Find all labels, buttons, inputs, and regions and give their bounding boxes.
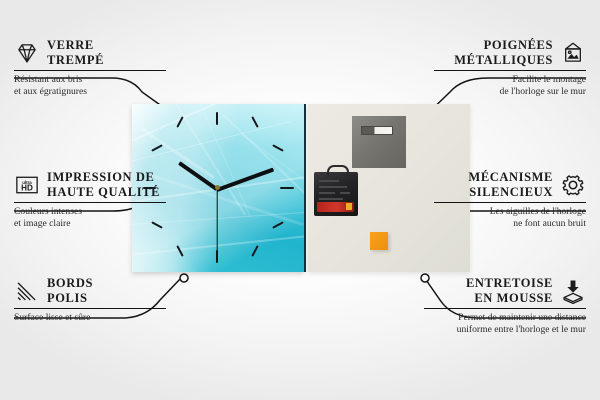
gear-icon [560, 172, 586, 198]
clock-tick [280, 187, 294, 189]
feature-divider [434, 70, 586, 71]
feature-header: ultra HD IMPRESSION DE HAUTE QUALITÉ [14, 170, 204, 199]
feature-title: POIGNÉES MÉTALLIQUES [454, 38, 553, 67]
feature-subtitle: Les aiguilles de l'horloge ne font aucun… [396, 206, 586, 229]
movement-hanging-loop [327, 165, 349, 177]
feature-bords-polis: BORDS POLIS Surface lisse et sûre [14, 276, 204, 324]
feature-divider [424, 308, 586, 309]
feature-divider [14, 308, 166, 309]
movement-battery [317, 202, 354, 212]
feature-title: BORDS POLIS [47, 276, 93, 305]
clock-hub [215, 185, 220, 190]
feature-header: BORDS POLIS [14, 276, 204, 305]
feature-subtitle: Facilite le montage de l'horloge sur le … [396, 74, 586, 97]
hanger-slot [361, 126, 393, 135]
feature-title: ENTRETOISE EN MOUSSE [466, 276, 553, 305]
clock-tick [216, 112, 218, 125]
feature-subtitle: Couleurs intenses et image claire [14, 206, 204, 229]
picture-hanger-icon [560, 40, 586, 66]
feature-header: ENTRETOISE EN MOUSSE [396, 276, 586, 305]
feature-header: POIGNÉES MÉTALLIQUES [396, 38, 586, 67]
feature-header: MÉCANISME SILENCIEUX [396, 170, 586, 199]
feature-header: VERRE TREMPÉ [14, 38, 204, 67]
diamond-icon [14, 40, 40, 66]
feature-verre-trempe: VERRE TREMPÉ Résistant aux bris et aux é… [14, 38, 204, 98]
feature-divider [14, 70, 166, 71]
feature-entretoise-en-mousse: ENTRETOISE EN MOUSSE Permet de maintenir… [396, 276, 586, 336]
feature-title: IMPRESSION DE HAUTE QUALITÉ [47, 170, 160, 199]
foam-spacer [370, 232, 388, 250]
clock-tick [272, 221, 284, 228]
clock-tick [251, 245, 258, 257]
feature-subtitle: Surface lisse et sûre [14, 312, 204, 324]
feature-impression-haute-qualite: ultra HD IMPRESSION DE HAUTE QUALITÉ Cou… [14, 170, 204, 230]
feature-poignees-metalliques: POIGNÉES MÉTALLIQUES Facilite le montage… [396, 38, 586, 98]
feature-title: VERRE TREMPÉ [47, 38, 104, 67]
feature-mecanisme-silencieux: MÉCANISME SILENCIEUX Les aiguilles de l'… [396, 170, 586, 230]
feature-divider [14, 202, 166, 203]
clock-movement [314, 172, 358, 216]
ultra-hd-icon: ultra HD [14, 172, 40, 198]
feature-divider [434, 202, 586, 203]
clock-tick [216, 250, 218, 263]
infographic-canvas: VERRE TREMPÉ Résistant aux bris et aux é… [0, 0, 600, 400]
battery-terminal [346, 203, 352, 210]
polished-edge-icon [14, 278, 40, 304]
clock-second-hand [216, 189, 217, 251]
clock-minute-hand [216, 167, 274, 191]
feature-subtitle: Résistant aux bris et aux égratignures [14, 74, 204, 97]
svg-text:HD: HD [21, 183, 33, 192]
metal-hanger-plate [352, 116, 406, 168]
foam-spacer-icon [560, 278, 586, 304]
feature-title: MÉCANISME SILENCIEUX [468, 170, 553, 199]
feature-subtitle: Permet de maintenir une distance uniform… [396, 312, 586, 335]
